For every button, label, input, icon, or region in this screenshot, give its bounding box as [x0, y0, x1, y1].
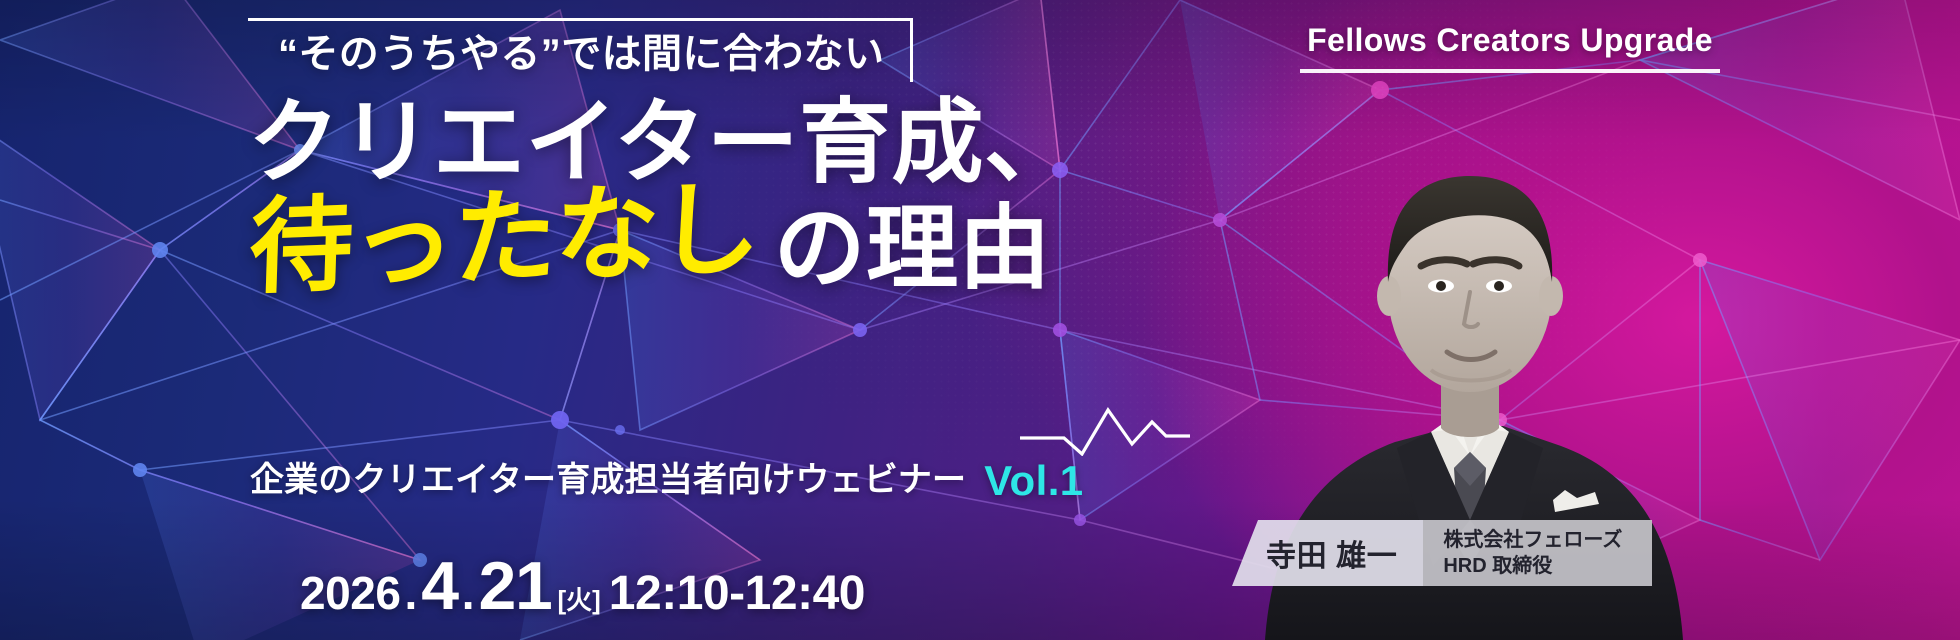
date-month: 4 [421, 552, 457, 620]
headline-block: クリエイター育成、 待ったなし の理由 [248, 96, 1148, 298]
volume-badge: Vol.1 [984, 460, 1083, 501]
headline-brush-highlight: 待ったなし [248, 178, 760, 298]
subtitle-block: 企業のクリエイター育成担当者向けウェビナー Vol.1 [250, 452, 1084, 501]
brand-label-block: Fellows Creators Upgrade [1300, 22, 1720, 73]
date-day: 21 [479, 552, 552, 620]
speaker-affiliation: 株式会社フェローズ HRD 取締役 [1423, 520, 1652, 586]
brand-underline [1300, 69, 1720, 73]
zigzag-pulse-decoration [1020, 404, 1190, 456]
speaker-name-plate: 寺田 雄一 株式会社フェローズ HRD 取締役 [1232, 520, 1652, 586]
kicker-text: “そのうちやる”では間に合わない [278, 31, 884, 78]
date-year: 2026 [300, 566, 401, 620]
brand-label-text: Fellows Creators Upgrade [1300, 22, 1720, 59]
kicker-frame: “そのうちやる”では間に合わない [248, 18, 913, 82]
headline-tail: の理由 [760, 202, 1051, 298]
speaker-company: 株式会社フェローズ [1443, 527, 1622, 553]
date-separator-1: . [401, 566, 422, 620]
date-dayofweek: [火] [551, 580, 608, 617]
speaker-name: 寺田 雄一 [1232, 520, 1423, 586]
date-separator-2: . [458, 566, 479, 620]
webinar-banner: “そのうちやる”では間に合わない クリエイター育成、 待ったなし の理由 企業の… [0, 0, 1960, 640]
headline-line-2: 待ったなし の理由 [248, 198, 1148, 298]
speaker-role: HRD 取締役 [1443, 553, 1622, 579]
kicker-block: “そのうちやる”では間に合わない [248, 18, 913, 82]
banner-content: “そのうちやる”では間に合わない クリエイター育成、 待ったなし の理由 企業の… [0, 0, 1180, 640]
date-time-range: 12:10-12:40 [609, 566, 865, 621]
subtitle-text: 企業のクリエイター育成担当者向けウェビナー [250, 452, 966, 501]
date-time-block: 2026 . 4 . 21 [火] 12:10-12:40 [300, 552, 865, 621]
